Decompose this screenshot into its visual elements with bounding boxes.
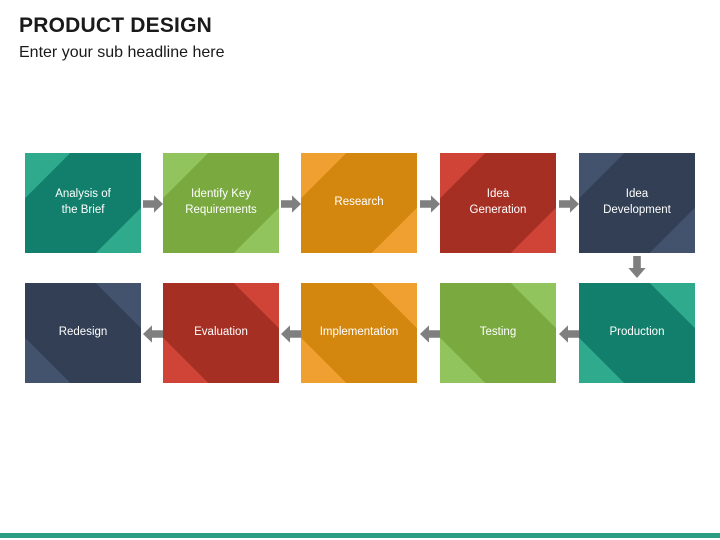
arrow-left-icon <box>559 324 579 344</box>
process-step-label: Testing <box>474 325 522 341</box>
bottom-accent-bar <box>0 533 720 538</box>
process-step-identify-key-requirements[interactable]: Identify Key Requirements <box>163 153 279 253</box>
process-step-label: Redesign <box>53 325 114 341</box>
process-step-label: Production <box>604 325 671 341</box>
process-flow-diagram: Analysis of the Brief Identify Key Requi… <box>0 0 720 540</box>
process-step-implementation[interactable]: Implementation <box>301 283 417 383</box>
process-step-label: Evaluation <box>188 325 254 341</box>
arrow-left-icon <box>281 324 301 344</box>
arrow-right-icon <box>143 194 163 214</box>
process-step-research[interactable]: Research <box>301 153 417 253</box>
process-step-idea-generation[interactable]: Idea Generation <box>440 153 556 253</box>
process-step-idea-development[interactable]: Idea Development <box>579 153 695 253</box>
process-step-production[interactable]: Production <box>579 283 695 383</box>
arrow-left-icon <box>143 324 163 344</box>
process-step-evaluation[interactable]: Evaluation <box>163 283 279 383</box>
process-step-label: Idea Generation <box>464 187 533 218</box>
process-step-label: Identify Key Requirements <box>179 187 263 218</box>
process-step-analysis-of-the-brief[interactable]: Analysis of the Brief <box>25 153 141 253</box>
arrow-right-icon <box>420 194 440 214</box>
process-step-label: Research <box>328 195 389 211</box>
process-step-testing[interactable]: Testing <box>440 283 556 383</box>
arrow-right-icon <box>559 194 579 214</box>
process-step-redesign[interactable]: Redesign <box>25 283 141 383</box>
process-step-label: Idea Development <box>597 187 677 218</box>
process-step-label: Implementation <box>314 325 405 341</box>
arrow-right-icon <box>281 194 301 214</box>
arrow-down-icon <box>627 256 647 278</box>
process-step-label: Analysis of the Brief <box>49 187 117 218</box>
arrow-left-icon <box>420 324 440 344</box>
